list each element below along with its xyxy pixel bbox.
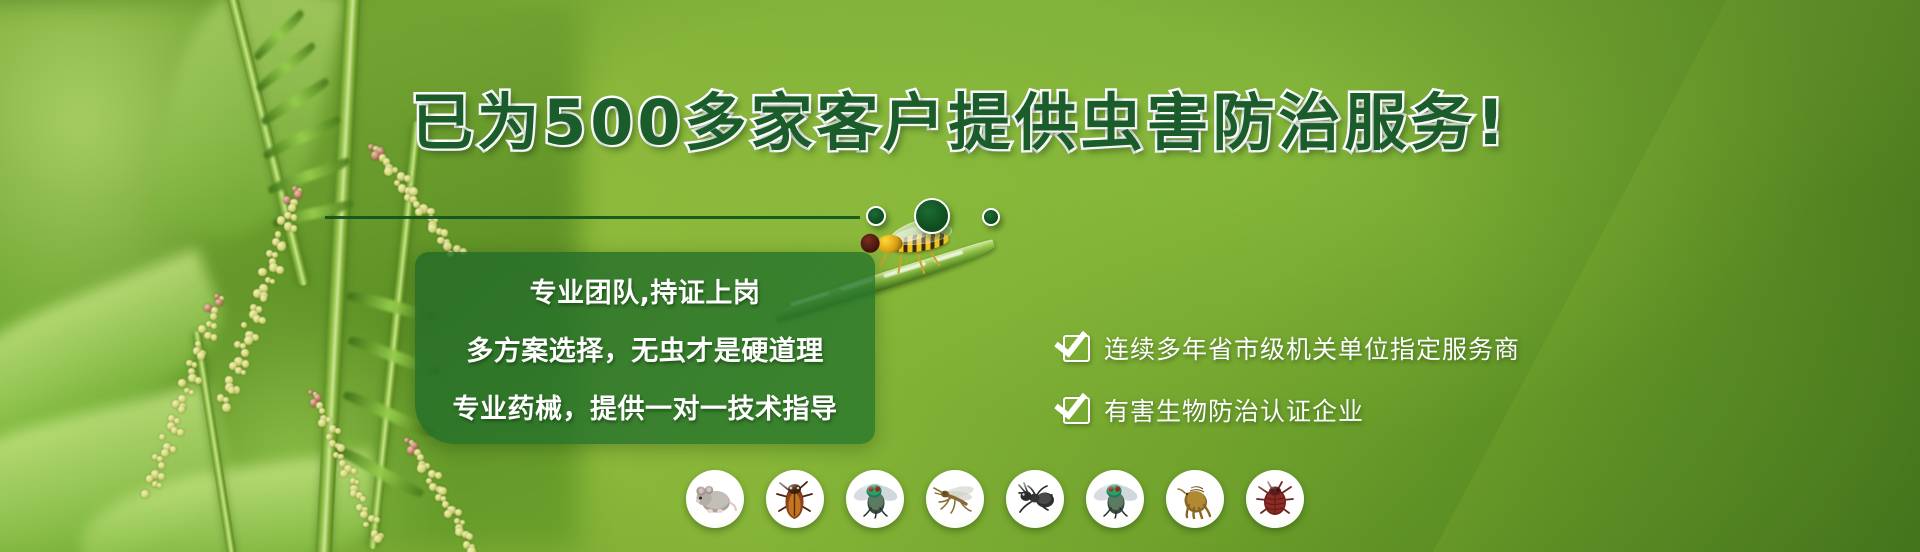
pest-control-banner: 已为500多家客户提供虫害防治服务! 专业团队,持证上岗 多方案选择，无虫才是硬…: [0, 0, 1920, 552]
flower-bud: [178, 379, 186, 387]
flower-bud: [195, 341, 201, 347]
banner-headline: 已为500多家客户提供虫害防治服务!: [0, 72, 1920, 162]
small-dot: [982, 208, 1000, 226]
flower-bud: [210, 313, 217, 320]
flower-bud: [338, 454, 344, 460]
flower-bud: [443, 242, 452, 251]
flower-bud: [435, 472, 442, 479]
divider-line: [325, 216, 860, 219]
flower-bud: [157, 483, 162, 488]
flower-bud: [444, 510, 452, 518]
flower-bud: [260, 295, 267, 302]
flower-bud: [318, 419, 326, 427]
checklist-item: 有害生物防治认证企业: [1063, 392, 1520, 428]
flower-bud: [363, 522, 369, 528]
checkbox-checked-icon: [1063, 335, 1090, 362]
flower-bud: [158, 473, 165, 480]
flower-bud: [158, 462, 165, 469]
flower-bud: [360, 511, 368, 519]
flower-bud: [277, 242, 286, 251]
flower-bud: [159, 434, 165, 440]
cockroach-icon[interactable]: [766, 470, 824, 528]
flower-bud: [340, 470, 347, 477]
flower-bud: [258, 268, 266, 276]
flower-bud: [360, 496, 366, 502]
flower-bud: [259, 317, 266, 324]
flower-bud: [276, 266, 283, 273]
flower-bud: [157, 456, 163, 462]
mosquito-icon[interactable]: [926, 470, 984, 528]
flower-bud: [275, 231, 281, 237]
small-dot: [866, 206, 886, 226]
flower-bud: [170, 446, 177, 453]
flower-bud: [427, 208, 435, 216]
ant-icon[interactable]: [1006, 470, 1064, 528]
flower-bud: [466, 533, 473, 540]
flower-bud: [291, 225, 298, 232]
flower-bud: [291, 214, 297, 220]
flower-bud: [252, 334, 259, 341]
flower-bud: [178, 406, 185, 413]
flower-bud: [384, 167, 393, 176]
flower-bud: [355, 480, 360, 485]
flower-bud: [215, 299, 223, 307]
flower-bud: [141, 490, 149, 498]
pest-icon-row: [686, 470, 1304, 528]
mouse-icon[interactable]: [686, 470, 744, 528]
flower-spike: [390, 430, 510, 552]
hoverfly-head: [860, 233, 880, 253]
checklist-item-label: 有害生物防治认证企业: [1104, 392, 1364, 428]
flower-bud: [161, 449, 169, 457]
checklist-item: 连续多年省市级机关单位指定服务商: [1063, 330, 1520, 366]
flower-bud: [441, 229, 448, 236]
flower-bud: [337, 444, 345, 452]
flower-bud: [374, 535, 382, 543]
feature-line-1: 专业团队,持证上岗: [530, 271, 761, 310]
flower-bud: [192, 362, 198, 368]
flower-bud: [351, 468, 358, 475]
flower-bud: [374, 517, 380, 523]
flower-bud: [294, 190, 302, 198]
feature-line-2: 多方案选择，无虫才是硬道理: [466, 329, 824, 368]
credentials-checklist: 连续多年省市级机关单位指定服务商 有害生物防治认证企业: [1063, 330, 1520, 428]
fly-icon[interactable]: [846, 470, 904, 528]
flower-bud: [417, 464, 425, 472]
flower-bud: [326, 417, 332, 423]
flower-bud: [319, 408, 326, 415]
flower-spike: [126, 288, 246, 498]
checklist-item-label: 连续多年省市级机关单位指定服务商: [1104, 330, 1520, 366]
flower-bud: [455, 509, 462, 516]
flower-bud: [288, 204, 295, 211]
feature-panel-text: 专业团队,持证上岗 多方案选择，无虫才是硬道理 专业药械，提供一对一技术指导: [415, 252, 875, 444]
checkbox-checked-icon: [1063, 397, 1090, 424]
flower-bud: [174, 418, 180, 424]
flower-bud: [270, 279, 275, 284]
flower-bud: [326, 434, 332, 440]
flower-bud: [417, 454, 424, 461]
flower-bud: [467, 547, 475, 552]
flower-bud: [211, 334, 218, 341]
flower-bud: [189, 390, 194, 395]
flower-bud: [177, 429, 184, 436]
fly-icon[interactable]: [1086, 470, 1144, 528]
flea-icon[interactable]: [1166, 470, 1224, 528]
feature-line-3: 专业药械，提供一对一技术指导: [453, 387, 838, 426]
flower-bud: [197, 352, 205, 360]
banner-headline-text: 已为500多家客户提供虫害防治服务!: [411, 86, 1509, 159]
flower-bud: [195, 377, 202, 384]
flower-bud: [335, 428, 341, 434]
flower-bud: [404, 175, 411, 182]
large-dot: [914, 198, 950, 234]
flower-bud: [211, 323, 217, 329]
bedbug-icon[interactable]: [1246, 470, 1304, 528]
